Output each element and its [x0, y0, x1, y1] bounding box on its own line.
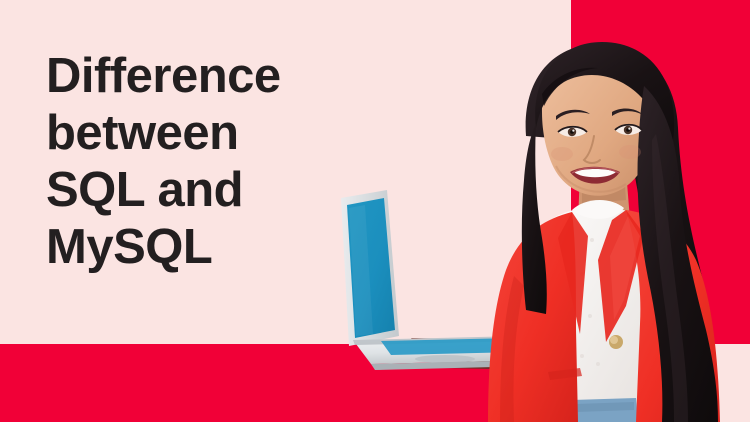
- cheek-right: [619, 145, 641, 159]
- hair-left-fall: [522, 124, 547, 314]
- person-image: [430, 24, 750, 422]
- banner-canvas: Difference between SQL and MySQL: [0, 0, 750, 422]
- cheek-left: [551, 147, 573, 161]
